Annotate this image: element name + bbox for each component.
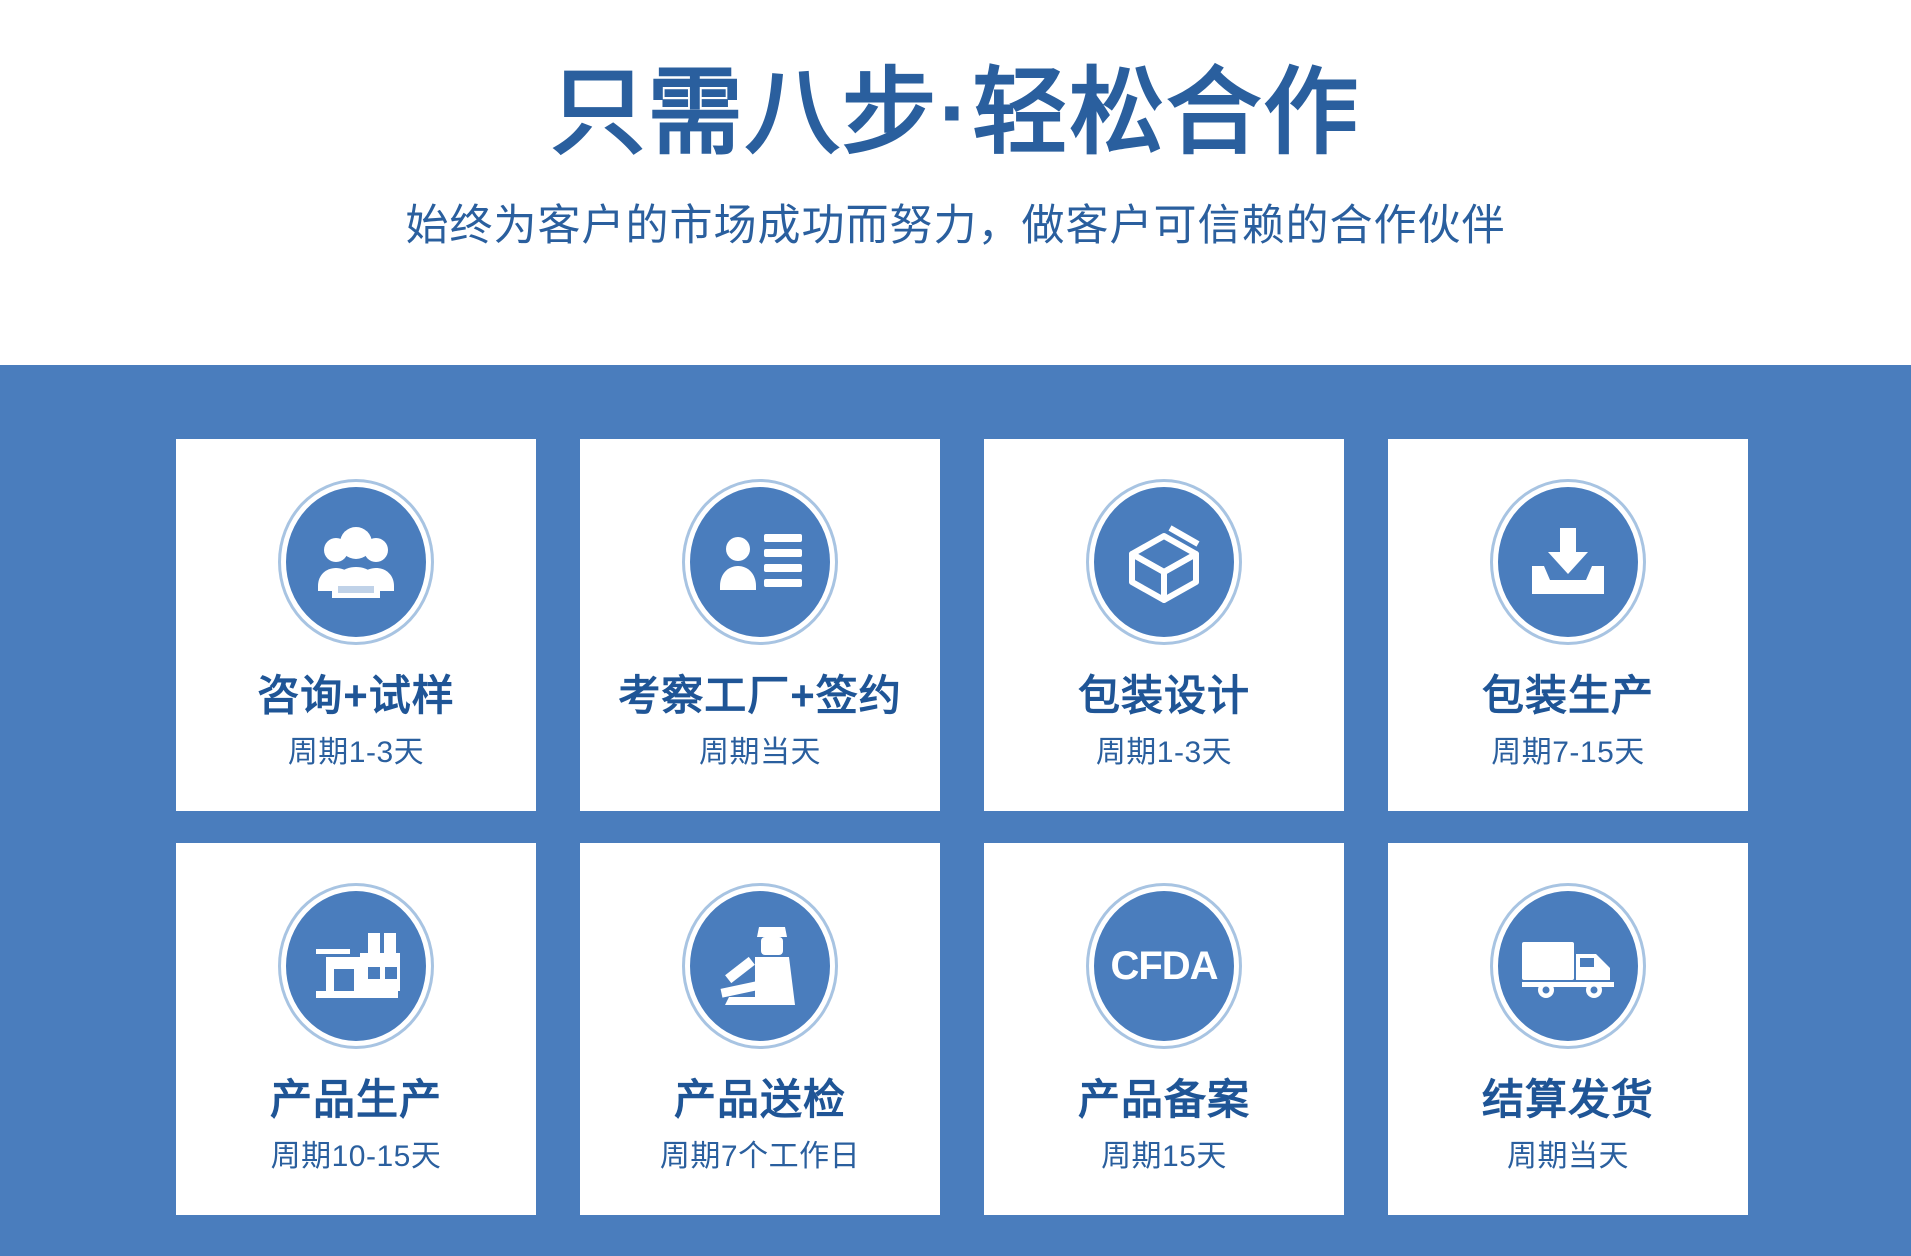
factory-icon <box>281 886 431 1046</box>
step-5-period: 周期10-15天 <box>271 1142 442 1172</box>
step-7-title: 产品备案 <box>1078 1079 1250 1121</box>
step-2-title: 考察工厂+签约 <box>618 675 902 717</box>
step-1-title: 咨询+试样 <box>257 675 455 717</box>
inspector-icon <box>685 886 835 1046</box>
page-title: 只需八步·轻松合作 <box>551 62 1361 165</box>
step-3-title: 包装设计 <box>1078 675 1250 717</box>
step-1-icon-wrap <box>281 487 431 637</box>
step-card-8[interactable]: 结算发货 周期当天 <box>1388 843 1748 1215</box>
step-4-icon-wrap <box>1493 487 1643 637</box>
promo-page: 只需八步·轻松合作 始终为客户的市场成功而努力，做客户可信赖的合作伙伴 <box>0 0 1911 1256</box>
step-6-icon-wrap <box>685 891 835 1041</box>
step-8-period: 周期当天 <box>1507 1142 1629 1172</box>
cfda-label: CFDA <box>1110 944 1217 989</box>
step-2-period: 周期当天 <box>699 738 821 768</box>
page-subtitle: 始终为客户的市场成功而努力，做客户可信赖的合作伙伴 <box>406 191 1506 253</box>
steps-panel: 咨询+试样 周期1-3天 <box>0 365 1911 1256</box>
step-card-6[interactable]: 产品送检 周期7个工作日 <box>580 843 940 1215</box>
step-3-icon-wrap <box>1089 487 1239 637</box>
step-card-5[interactable]: 产品生产 周期10-15天 <box>176 843 536 1215</box>
inbox-download-icon <box>1493 482 1643 642</box>
steps-grid: 咨询+试样 周期1-3天 <box>176 439 1748 1215</box>
step-4-period: 周期7-15天 <box>1491 738 1645 768</box>
step-card-7[interactable]: CFDA 产品备案 周期15天 <box>984 843 1344 1215</box>
step-5-icon-wrap <box>281 891 431 1041</box>
step-6-period: 周期7个工作日 <box>660 1142 860 1172</box>
step-card-3[interactable]: 包装设计 周期1-3天 <box>984 439 1344 811</box>
step-1-period: 周期1-3天 <box>288 738 424 768</box>
step-8-icon-wrap <box>1493 891 1643 1041</box>
step-card-2[interactable]: 考察工厂+签约 周期当天 <box>580 439 940 811</box>
step-4-title: 包装生产 <box>1482 675 1654 717</box>
cfda-badge-icon: CFDA <box>1089 886 1239 1046</box>
step-7-period: 周期15天 <box>1101 1142 1227 1172</box>
step-7-icon-wrap: CFDA <box>1089 891 1239 1041</box>
step-5-title: 产品生产 <box>270 1079 442 1121</box>
open-box-icon <box>1089 482 1239 642</box>
step-card-4[interactable]: 包装生产 周期7-15天 <box>1388 439 1748 811</box>
delivery-truck-icon <box>1493 886 1643 1046</box>
step-2-icon-wrap <box>685 487 835 637</box>
page-header: 只需八步·轻松合作 始终为客户的市场成功而努力，做客户可信赖的合作伙伴 <box>0 0 1911 365</box>
step-8-title: 结算发货 <box>1482 1079 1654 1121</box>
group-people-icon <box>281 482 431 642</box>
step-card-1[interactable]: 咨询+试样 周期1-3天 <box>176 439 536 811</box>
step-3-period: 周期1-3天 <box>1096 738 1232 768</box>
step-6-title: 产品送检 <box>674 1079 846 1121</box>
id-card-icon <box>685 482 835 642</box>
